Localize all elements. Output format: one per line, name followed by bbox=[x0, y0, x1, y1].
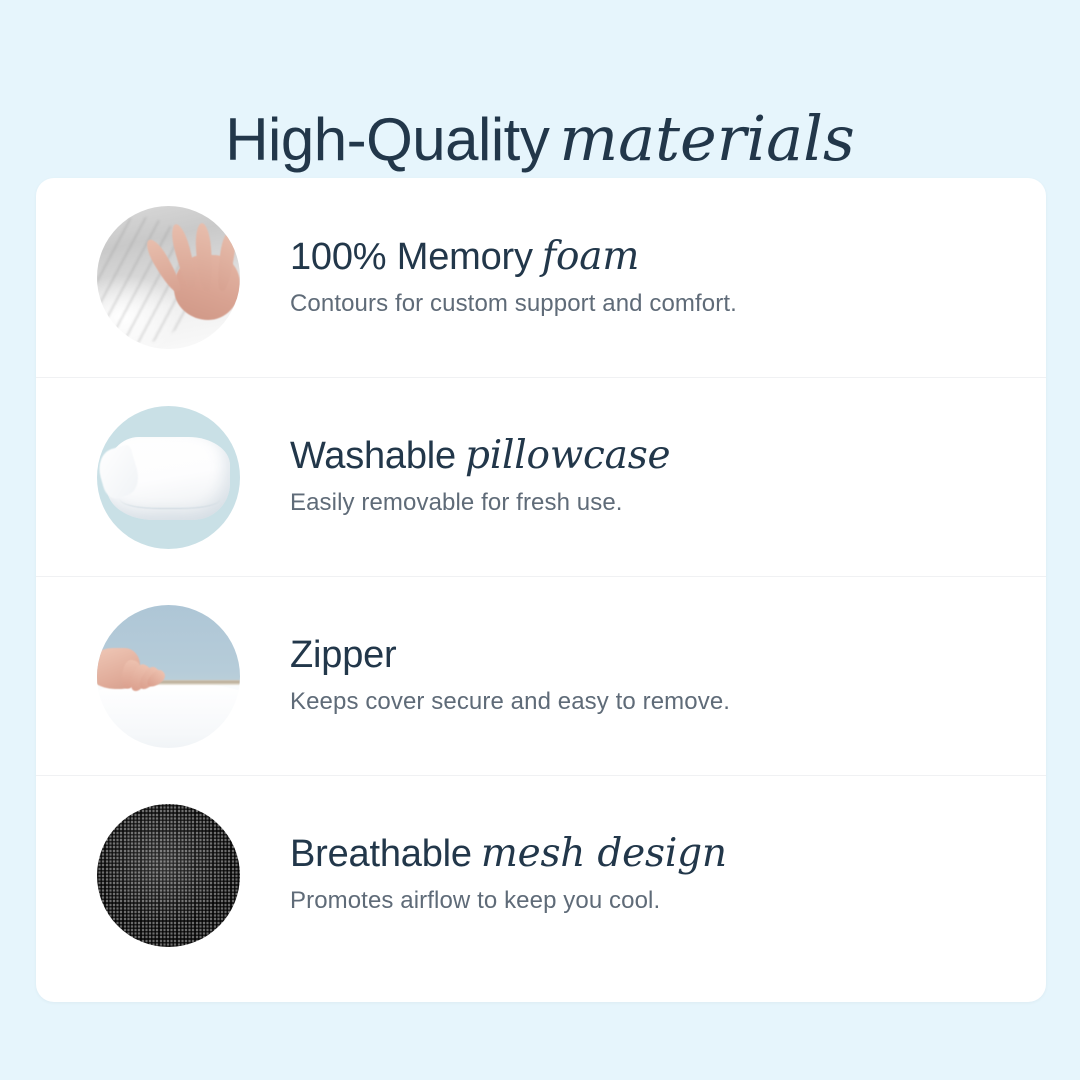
page-title-emphasis: materials bbox=[559, 102, 854, 175]
feature-description: Promotes airflow to keep you cool. bbox=[290, 885, 727, 917]
zipper-hand-photo-icon bbox=[97, 605, 240, 748]
feature-text-block: Zipper Keeps cover secure and easy to re… bbox=[290, 632, 730, 720]
feature-description: Contours for custom support and comfort. bbox=[290, 288, 737, 320]
feature-title-plain: 100% Memory bbox=[290, 236, 533, 278]
feature-title-plain: Washable bbox=[290, 435, 456, 477]
mesh-shading-overlay bbox=[97, 804, 240, 947]
memory-foam-hand-press-photo-icon bbox=[97, 206, 240, 349]
feature-row-zipper[interactable]: Zipper Keeps cover secure and easy to re… bbox=[36, 576, 1046, 775]
feature-title-emphasis: mesh design bbox=[481, 831, 727, 876]
feature-description: Keeps cover secure and easy to remove. bbox=[290, 686, 730, 718]
hand-shape bbox=[143, 223, 240, 329]
page-title: High-Qualitymaterials bbox=[0, 102, 1080, 177]
feature-title: Washablepillowcase bbox=[290, 433, 670, 479]
feature-description: Easily removable for fresh use. bbox=[290, 487, 670, 519]
feature-text-block: Breathablemesh design Promotes airflow t… bbox=[290, 831, 727, 919]
feature-title-plain: Zipper bbox=[290, 634, 397, 676]
pillow-seam-shape bbox=[120, 486, 220, 510]
feature-row-washable-pillowcase[interactable]: Washablepillowcase Easily removable for … bbox=[36, 377, 1046, 576]
page-title-plain: High-Quality bbox=[225, 106, 549, 173]
feature-title-plain: Breathable bbox=[290, 833, 472, 875]
materials-feature-page: High-Qualitymaterials 100% Memoryfoam bbox=[0, 0, 1080, 1080]
feature-title-emphasis: pillowcase bbox=[465, 433, 670, 478]
feature-text-block: 100% Memoryfoam Contours for custom supp… bbox=[290, 234, 737, 322]
hand-shape bbox=[97, 647, 171, 701]
features-card: 100% Memoryfoam Contours for custom supp… bbox=[36, 178, 1046, 1002]
breathable-mesh-texture-photo-icon bbox=[97, 804, 240, 947]
feature-title: Breathablemesh design bbox=[290, 831, 727, 877]
feature-text-block: Washablepillowcase Easily removable for … bbox=[290, 433, 670, 521]
feature-title: 100% Memoryfoam bbox=[290, 234, 737, 280]
washable-pillowcase-photo-icon bbox=[97, 406, 240, 549]
feature-row-breathable-mesh[interactable]: Breathablemesh design Promotes airflow t… bbox=[36, 775, 1046, 974]
feature-title: Zipper bbox=[290, 632, 730, 678]
feature-row-memory-foam[interactable]: 100% Memoryfoam Contours for custom supp… bbox=[36, 178, 1046, 377]
feature-title-emphasis: foam bbox=[542, 234, 639, 279]
